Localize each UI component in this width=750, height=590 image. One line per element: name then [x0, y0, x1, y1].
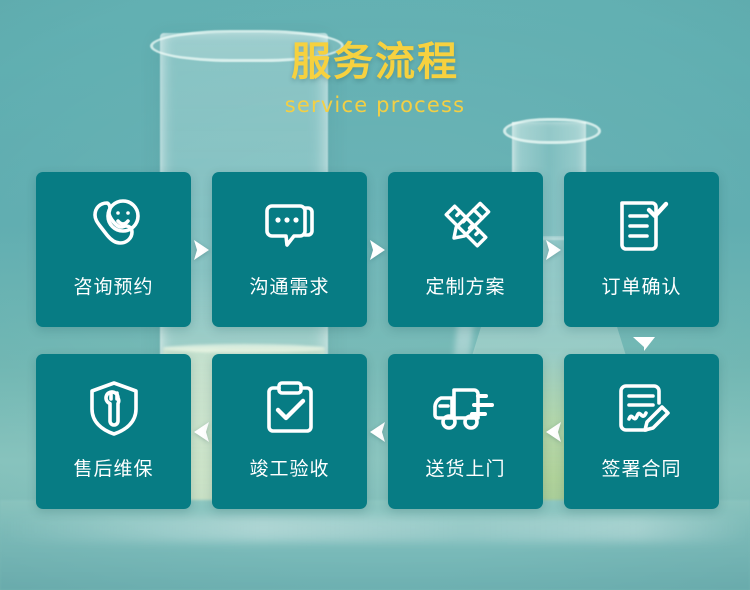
- process-step-4[interactable]: 订单确认: [564, 172, 719, 327]
- arrow-right-icon: [191, 172, 212, 327]
- contract-sign-icon: [610, 358, 674, 458]
- page-title: 服务流程: [0, 42, 750, 82]
- process-step-label: 定制方案: [425, 278, 505, 297]
- arrow-left-icon: [543, 354, 564, 509]
- process-step-label: 沟通需求: [249, 278, 329, 297]
- arrow-right-icon: [367, 172, 388, 327]
- process-step-8[interactable]: 售后维保: [36, 354, 191, 509]
- page-subtitle: service process: [0, 93, 750, 117]
- clipboard-check-icon: [258, 358, 322, 458]
- process-step-label: 送货上门: [425, 460, 505, 479]
- pencil-ruler-icon: [434, 176, 498, 276]
- process-grid: 咨询预约 沟通需求: [36, 172, 720, 509]
- process-step-label: 签署合同: [601, 460, 681, 479]
- chat-bubbles-icon: [258, 176, 322, 276]
- process-step-label: 竣工验收: [249, 460, 329, 479]
- process-step-label: 订单确认: [601, 278, 681, 297]
- banner-header: 服务流程 service process: [0, 42, 750, 117]
- arrow-left-icon: [367, 354, 388, 509]
- process-step-label: 咨询预约: [73, 278, 153, 297]
- arrow-right-icon: [543, 172, 564, 327]
- process-step-7[interactable]: 竣工验收: [212, 354, 367, 509]
- phone-smiley-icon: [82, 176, 146, 276]
- process-step-5[interactable]: 签署合同: [564, 354, 719, 509]
- shield-wrench-icon: [82, 358, 146, 458]
- process-step-1[interactable]: 咨询预约: [36, 172, 191, 327]
- document-check-icon: [610, 176, 674, 276]
- process-step-label: 售后维保: [73, 460, 153, 479]
- process-row-1: 咨询预约 沟通需求: [36, 172, 720, 327]
- process-step-6[interactable]: 送货上门: [388, 354, 543, 509]
- delivery-truck-icon: [432, 358, 500, 458]
- process-step-2[interactable]: 沟通需求: [212, 172, 367, 327]
- process-step-3[interactable]: 定制方案: [388, 172, 543, 327]
- arrow-down-icon: [619, 333, 669, 355]
- process-row-2: 售后维保 竣工验收: [36, 354, 720, 509]
- service-process-banner: 200 服务流程 service process 咨询预约: [0, 0, 750, 590]
- arrow-left-icon: [191, 354, 212, 509]
